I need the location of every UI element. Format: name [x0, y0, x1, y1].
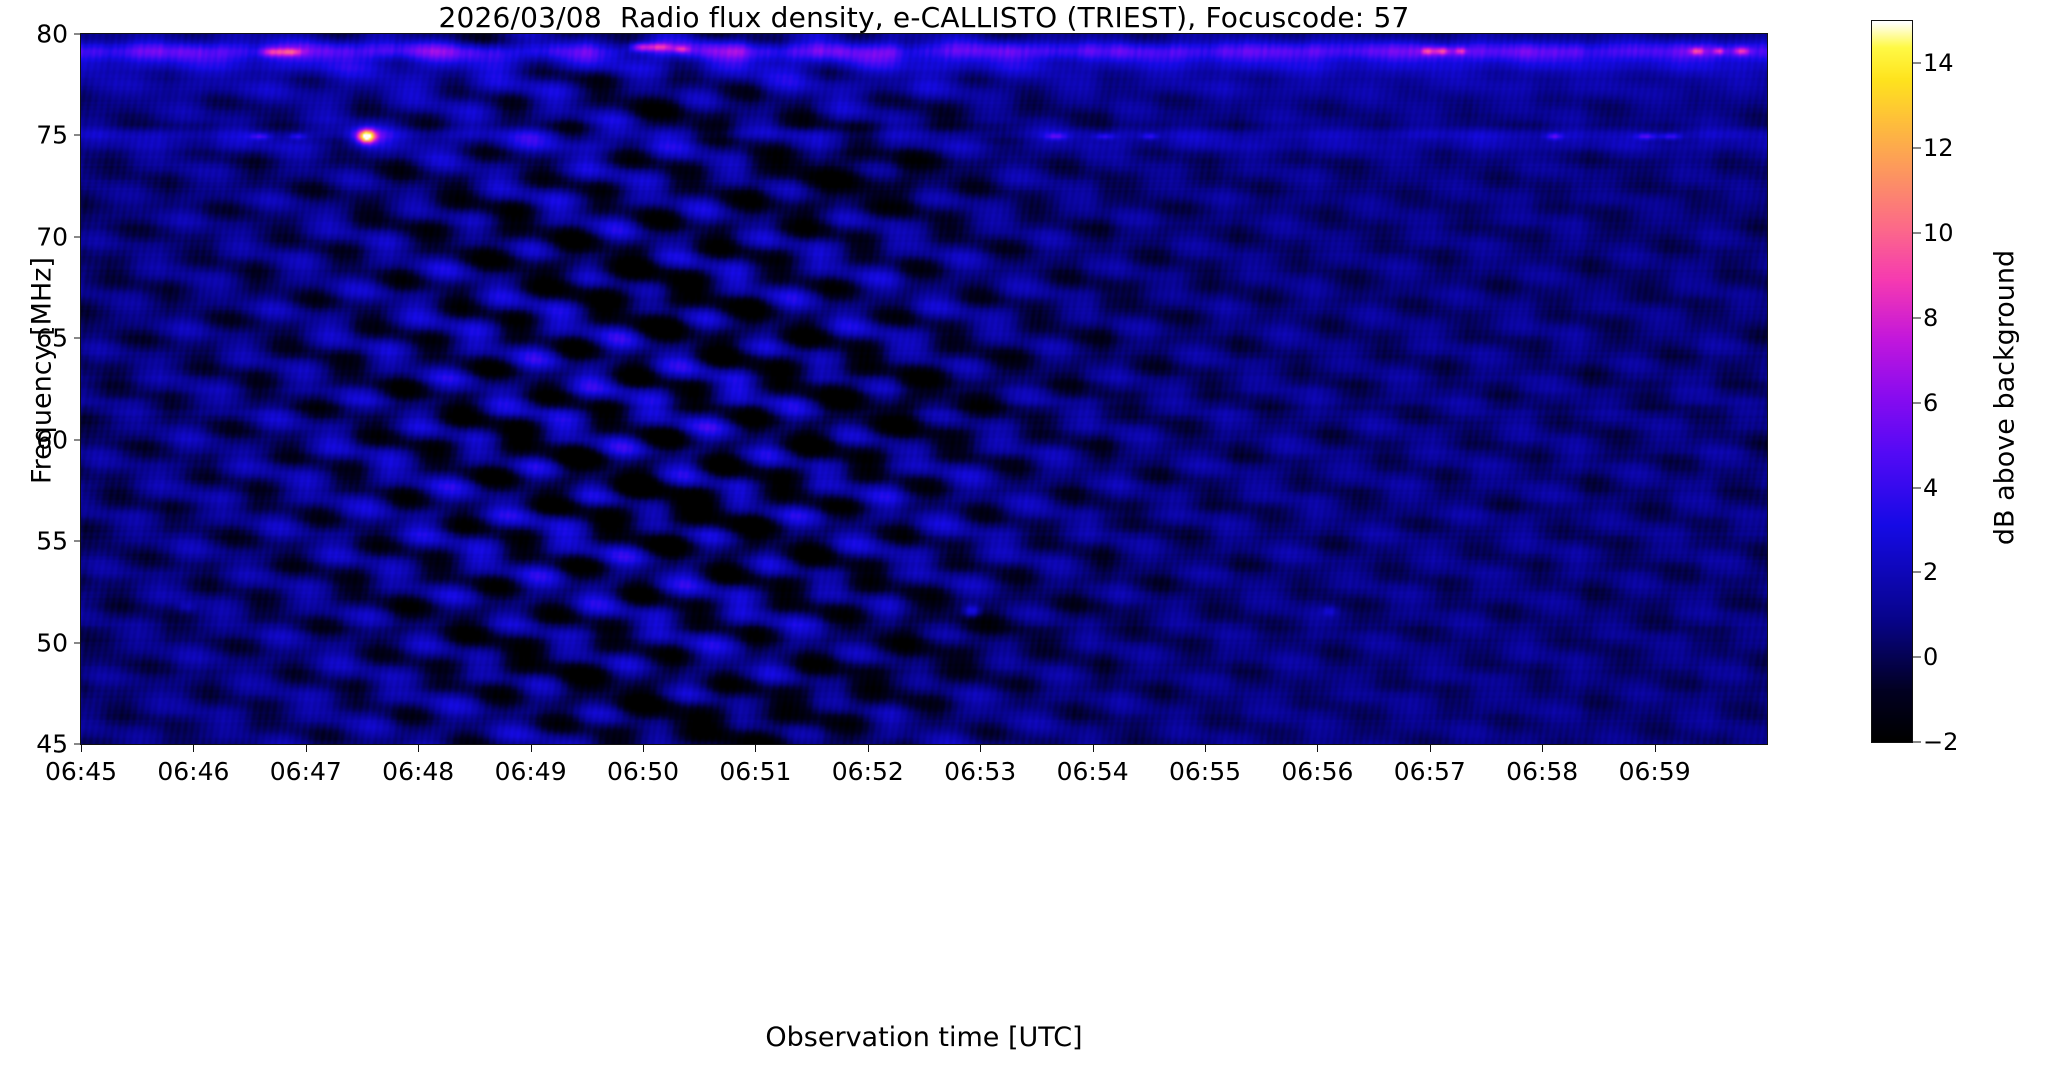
x-tick-label: 06:53: [944, 757, 1016, 786]
x-tick-mark: [980, 745, 981, 752]
x-tick-mark: [306, 745, 307, 752]
colorbar-label: dB above background: [1990, 98, 2021, 698]
x-tick-label: 06:56: [1281, 757, 1353, 786]
x-tick-mark: [1093, 745, 1094, 752]
colorbar-tick-label: 10: [1923, 219, 1954, 247]
spectrogram-image: [81, 34, 1767, 744]
y-axis-label: Frequency [MHz]: [27, 71, 58, 671]
x-tick-mark: [81, 745, 82, 752]
colorbar-tick-label: 14: [1923, 49, 1954, 77]
x-tick-label: 06:45: [45, 757, 117, 786]
x-tick-mark: [643, 745, 644, 752]
x-tick-mark: [531, 745, 532, 752]
colorbar-tick-label: 12: [1923, 134, 1954, 162]
x-tick-mark: [193, 745, 194, 752]
colorbar-tick-mark: [1913, 487, 1921, 488]
y-tick-mark: [74, 541, 81, 542]
colorbar-tick-mark: [1913, 63, 1921, 64]
x-tick-label: 06:57: [1394, 757, 1466, 786]
spectrogram-figure: 2026/03/08 Radio flux density, e-CALLIST…: [0, 0, 2047, 1067]
colorbar-tick-label: 6: [1923, 389, 1938, 417]
y-tick-mark: [74, 135, 81, 136]
colorbar-tick-mark: [1913, 742, 1921, 743]
colorbar-tick-label: 0: [1923, 643, 1938, 671]
colorbar-tick-label: 8: [1923, 304, 1938, 332]
colorbar-tick-mark: [1913, 402, 1921, 403]
x-tick-label: 06:58: [1506, 757, 1578, 786]
x-tick-label: 06:54: [1057, 757, 1129, 786]
colorbar-tick-mark: [1913, 657, 1921, 658]
colorbar-tick-mark: [1913, 148, 1921, 149]
colorbar-tick-mark: [1913, 233, 1921, 234]
spectrogram-plot-area[interactable]: [80, 33, 1768, 745]
x-tick-mark: [1542, 745, 1543, 752]
x-tick-label: 06:48: [382, 757, 454, 786]
x-tick-mark: [868, 745, 869, 752]
x-tick-label: 06:46: [157, 757, 229, 786]
colorbar-tick-mark: [1913, 317, 1921, 318]
x-tick-mark: [1317, 745, 1318, 752]
y-tick-mark: [74, 34, 81, 35]
x-tick-label: 06:47: [270, 757, 342, 786]
x-tick-mark: [1430, 745, 1431, 752]
x-tick-label: 06:49: [495, 757, 567, 786]
y-tick-label: 45: [36, 730, 68, 759]
colorbar-tick-mark: [1913, 572, 1921, 573]
x-tick-mark: [418, 745, 419, 752]
colorbar-tick-label: 4: [1923, 474, 1938, 502]
y-tick-mark: [74, 439, 81, 440]
x-tick-mark: [755, 745, 756, 752]
x-tick-label: 06:55: [1169, 757, 1241, 786]
x-tick-label: 06:51: [719, 757, 791, 786]
x-tick-label: 06:59: [1619, 757, 1691, 786]
figure-title: 2026/03/08 Radio flux density, e-CALLIST…: [80, 1, 1768, 33]
x-axis-label: Observation time [UTC]: [80, 1022, 1768, 1053]
colorbar-tick-label: 2: [1923, 558, 1938, 586]
x-tick-mark: [1655, 745, 1656, 752]
y-tick-mark: [74, 338, 81, 339]
y-tick-label: 80: [36, 20, 68, 49]
y-tick-mark: [74, 236, 81, 237]
colorbar-axis: 14121086420−2: [1871, 20, 1991, 743]
y-tick-mark: [74, 642, 81, 643]
x-tick-mark: [1205, 745, 1206, 752]
x-axis: 06:4506:4606:4706:4806:4906:5006:5106:52…: [80, 745, 1768, 785]
x-tick-label: 06:52: [832, 757, 904, 786]
colorbar-tick-label: −2: [1923, 728, 1958, 756]
x-tick-label: 06:50: [607, 757, 679, 786]
